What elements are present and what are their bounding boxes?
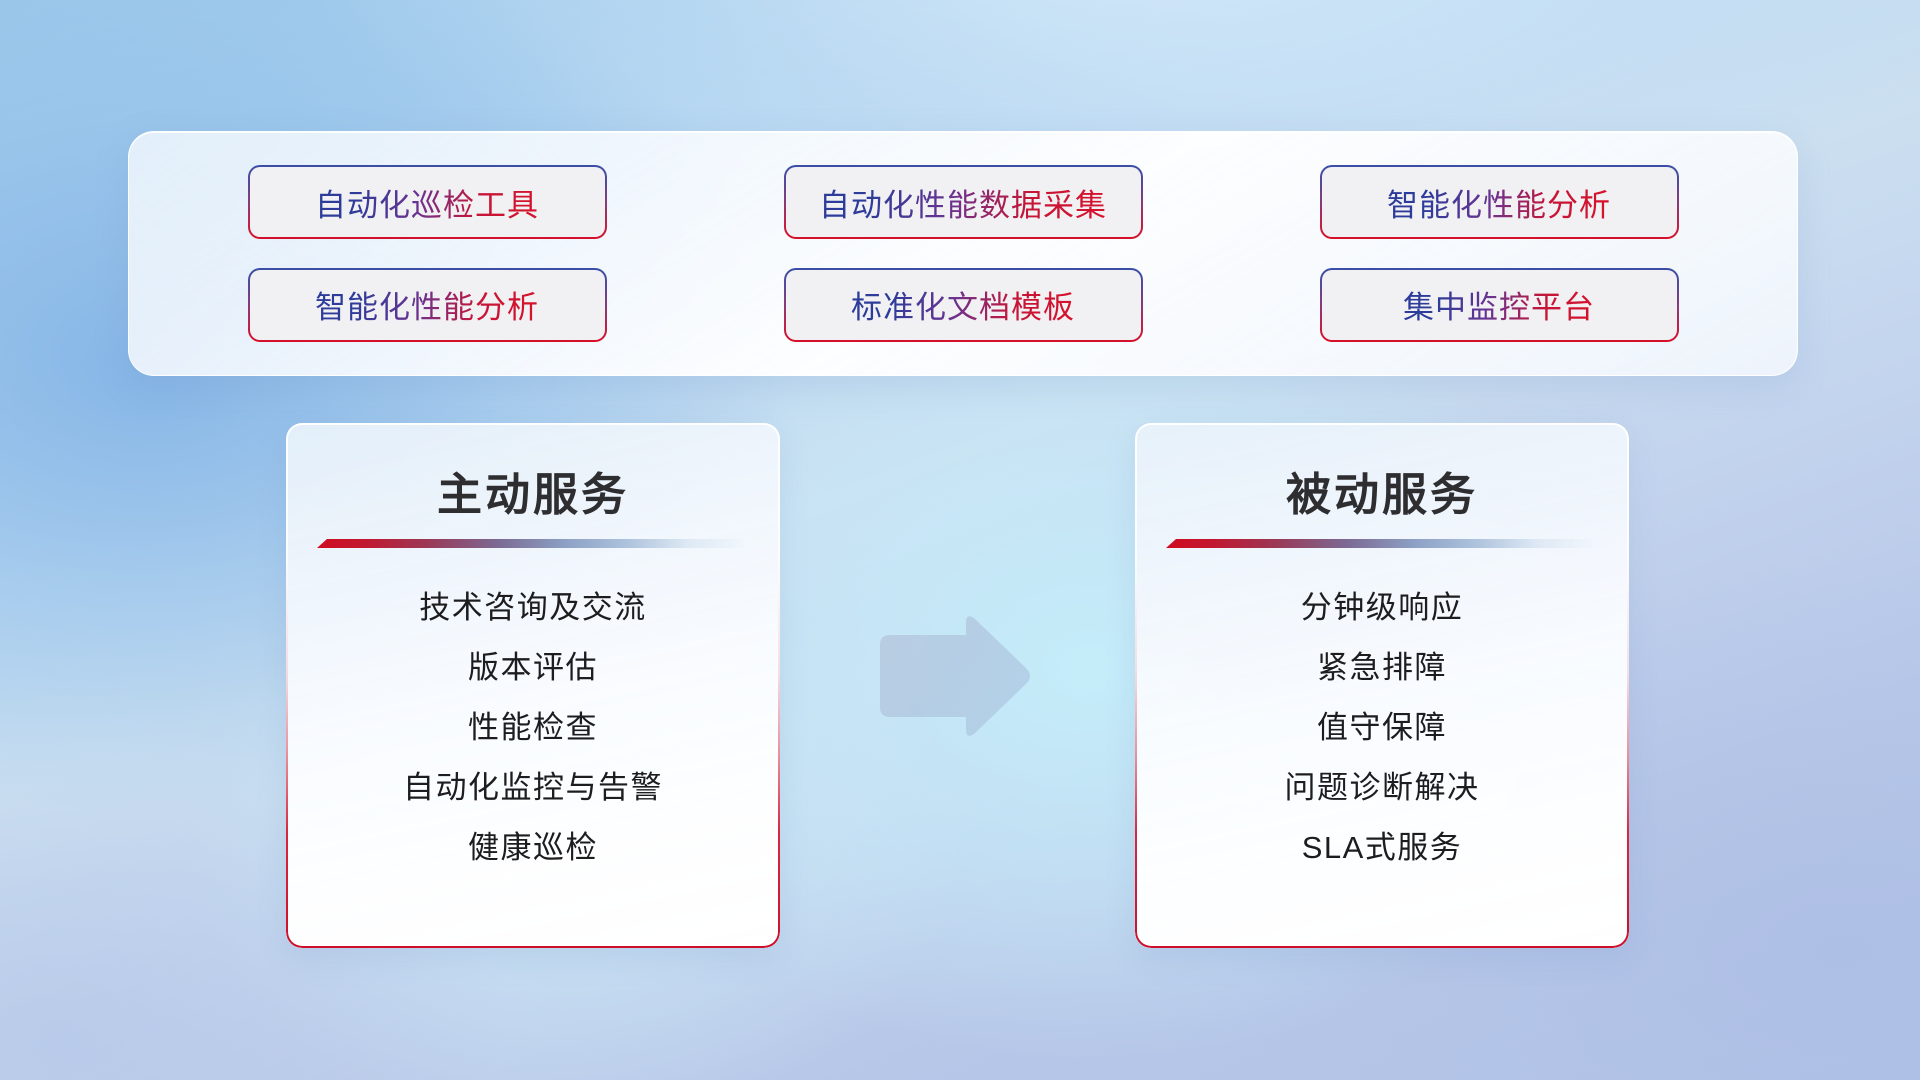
list-item: 自动化监控与告警 — [403, 771, 663, 805]
capability-pill-label: 智能化性能分析 — [315, 282, 539, 327]
capability-pill-2[interactable]: 自动化性能数据采集 — [786, 167, 1141, 237]
list-item: SLA式服务 — [1302, 831, 1463, 865]
capability-pill-grid: 自动化巡检工具 自动化性能数据采集 智能化性能分析 智能化性能分析 标准化文档模… — [129, 132, 1797, 375]
card-item-list: 分钟级响应 紧急排障 值守保障 问题诊断解决 SLA式服务 — [1135, 591, 1629, 865]
capability-pill-5[interactable]: 标准化文档模板 — [786, 270, 1141, 340]
list-item: 紧急排障 — [1317, 651, 1447, 685]
service-card-proactive: 主动服务 技术咨询及交流 版本评估 性能检查 自动化监控与告警 健康巡检 — [286, 423, 780, 948]
card-accent-rule — [1166, 539, 1598, 548]
list-item: 技术咨询及交流 — [419, 591, 647, 625]
capability-pill-6[interactable]: 集中监控平台 — [1322, 270, 1677, 340]
list-item: 性能检查 — [468, 711, 598, 745]
arrow-right-glyph — [874, 613, 1034, 739]
capability-pill-4[interactable]: 智能化性能分析 — [250, 270, 605, 340]
capability-pill-label: 智能化性能分析 — [1387, 180, 1611, 225]
card-item-list: 技术咨询及交流 版本评估 性能检查 自动化监控与告警 健康巡检 — [286, 591, 780, 865]
capability-pill-label: 自动化性能数据采集 — [819, 180, 1107, 225]
capability-pill-label: 集中监控平台 — [1403, 282, 1595, 327]
card-title: 主动服务 — [286, 458, 780, 523]
list-item: 值守保障 — [1317, 711, 1447, 745]
capability-panel: 自动化巡检工具 自动化性能数据采集 智能化性能分析 智能化性能分析 标准化文档模… — [128, 131, 1798, 376]
card-title: 被动服务 — [1135, 458, 1629, 523]
list-item: 分钟级响应 — [1301, 591, 1464, 625]
capability-pill-label: 自动化巡检工具 — [315, 180, 539, 225]
arrow-right-icon — [874, 613, 1034, 739]
list-item: 健康巡检 — [468, 831, 598, 865]
capability-pill-label: 标准化文档模板 — [851, 282, 1075, 327]
capability-pill-3[interactable]: 智能化性能分析 — [1322, 167, 1677, 237]
list-item: 问题诊断解决 — [1285, 771, 1480, 805]
list-item: 版本评估 — [468, 651, 598, 685]
capability-pill-1[interactable]: 自动化巡检工具 — [250, 167, 605, 237]
slide-canvas: 自动化巡检工具 自动化性能数据采集 智能化性能分析 智能化性能分析 标准化文档模… — [0, 0, 1920, 1080]
card-accent-rule — [317, 539, 749, 548]
service-card-reactive: 被动服务 分钟级响应 紧急排障 值守保障 问题诊断解决 SLA式服务 — [1135, 423, 1629, 948]
